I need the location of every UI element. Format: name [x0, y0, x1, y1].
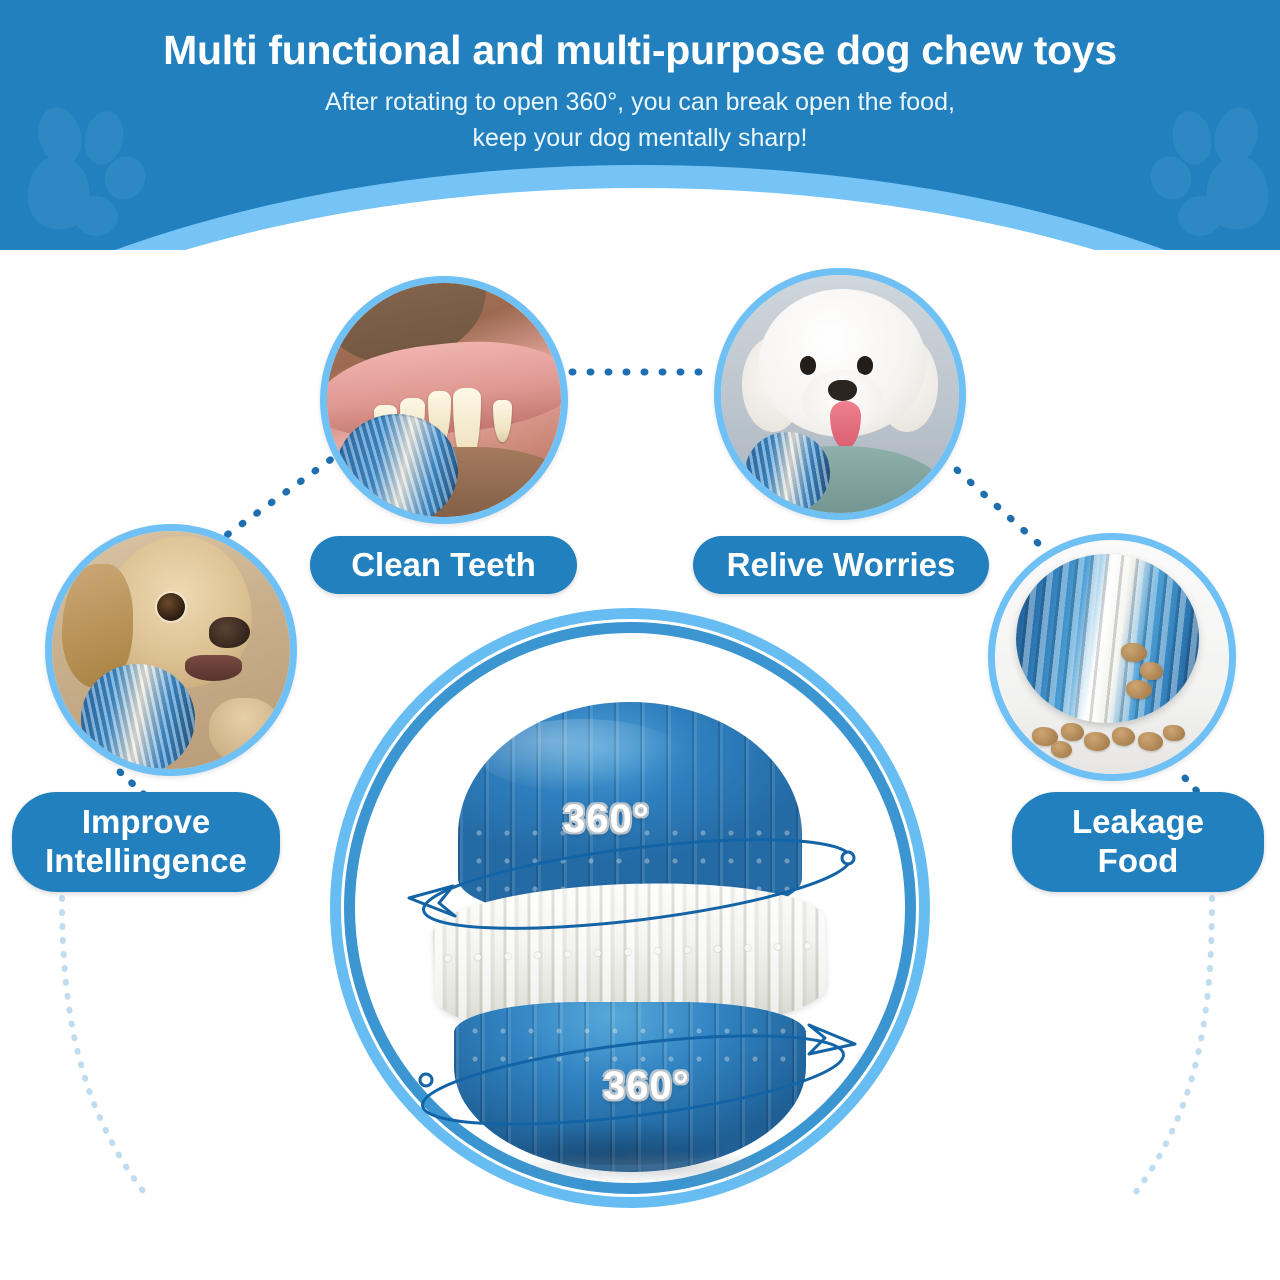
feature-label-line-2: Food	[1072, 842, 1204, 881]
photo-ball-with-kibble	[995, 540, 1229, 774]
photo-part-kibble	[1112, 727, 1135, 746]
feature-label-line-1: Improve	[45, 803, 247, 842]
photo-part-chew-ball	[336, 414, 458, 517]
photo-dog-teeth	[327, 283, 561, 517]
header-banner: Multi functional and multi-purpose dog c…	[0, 0, 1280, 250]
feature-image-improve-intelligence[interactable]	[45, 524, 297, 776]
photo-part-kibble	[1061, 723, 1084, 742]
photo-bichon-dog	[721, 275, 959, 513]
photo-part-nose	[209, 617, 249, 648]
photo-part-chew-ball	[1016, 554, 1199, 722]
page-title: Multi functional and multi-purpose dog c…	[0, 28, 1280, 73]
product-image: 360° 360°	[395, 672, 865, 1172]
photo-part-tooth	[493, 400, 512, 442]
photo-part-paw	[209, 698, 280, 765]
photo-part-kibble	[1163, 725, 1184, 741]
subtitle-line-2: keep your dog mentally sharp!	[0, 121, 1280, 157]
feature-label-text: Relive Worries	[727, 546, 956, 584]
page-subtitle: After rotating to open 360°, you can bre…	[0, 85, 1280, 156]
photo-part-kibble	[1121, 643, 1147, 662]
feature-label-text: Clean Teeth	[351, 546, 536, 584]
feature-label-text: Leakage Food	[1072, 803, 1204, 881]
feature-label-improve-intelligence[interactable]: Improve Intellingence	[12, 792, 280, 892]
photo-part-chew-ball	[745, 432, 831, 513]
feature-label-leakage-food[interactable]: Leakage Food	[1012, 792, 1264, 892]
badge-360-bottom: 360°	[603, 1064, 690, 1109]
subtitle-line-1: After rotating to open 360°, you can bre…	[0, 85, 1280, 121]
feature-image-relive-worries[interactable]	[714, 268, 966, 520]
photo-part-kibble	[1126, 680, 1152, 699]
feature-image-leakage-food[interactable]	[988, 533, 1236, 781]
feature-label-text: Improve Intellingence	[45, 803, 247, 881]
photo-part-kibble	[1084, 732, 1110, 751]
photo-dachshund-puppy	[52, 531, 290, 769]
badge-360-top: 360°	[563, 797, 650, 842]
feature-image-clean-teeth[interactable]	[320, 276, 568, 524]
infographic-canvas: Multi functional and multi-purpose dog c…	[0, 0, 1280, 1280]
photo-part-kibble	[1138, 732, 1164, 751]
photo-part-kibble	[1051, 741, 1072, 757]
header-text-block: Multi functional and multi-purpose dog c…	[0, 0, 1280, 156]
photo-part-chew-ball	[81, 664, 195, 769]
feature-label-relive-worries[interactable]: Relive Worries	[693, 536, 989, 594]
photo-part-nose	[828, 380, 857, 401]
photo-part-eye	[800, 356, 817, 375]
feature-label-clean-teeth[interactable]: Clean Teeth	[310, 536, 577, 594]
photo-part-tongue	[830, 401, 861, 449]
feature-label-line-1: Leakage	[1072, 803, 1204, 842]
feature-label-line-2: Intellingence	[45, 842, 247, 881]
photo-part-mouth	[185, 655, 242, 681]
